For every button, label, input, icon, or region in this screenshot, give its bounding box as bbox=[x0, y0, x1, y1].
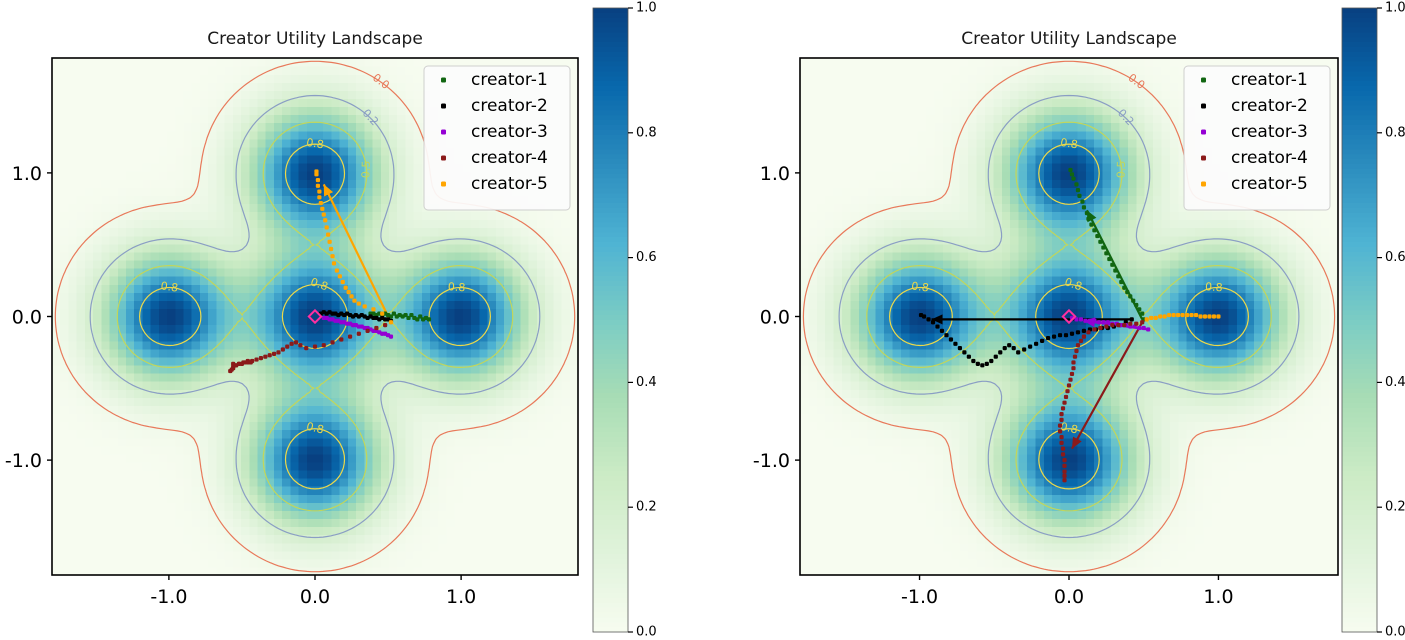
trajectory-point bbox=[1059, 418, 1063, 422]
trajectory-point bbox=[316, 178, 320, 182]
trajectory-point bbox=[1028, 345, 1032, 349]
trajectory-point bbox=[1092, 319, 1096, 323]
legend-label: creator-5 bbox=[1231, 174, 1308, 194]
y-tick-label: 1.0 bbox=[760, 163, 790, 185]
legend-label: creator-4 bbox=[471, 148, 548, 168]
trajectory-point bbox=[1071, 360, 1075, 364]
trajectory-point bbox=[1080, 200, 1084, 204]
trajectory-point bbox=[1083, 319, 1087, 323]
trajectory-point bbox=[1128, 322, 1132, 326]
trajectory-point bbox=[931, 320, 935, 324]
trajectory-point bbox=[1077, 194, 1081, 198]
trajectory-point bbox=[1070, 372, 1074, 376]
trajectory-point bbox=[1003, 346, 1007, 350]
trajectory-point bbox=[281, 347, 285, 351]
contour-label: 0.8 bbox=[1059, 136, 1078, 151]
trajectory-point bbox=[1110, 263, 1114, 267]
trajectory-point bbox=[1040, 339, 1044, 343]
trajectory-point bbox=[1154, 316, 1158, 320]
trajectory-point bbox=[1098, 326, 1102, 330]
trajectory-point bbox=[1125, 290, 1129, 294]
trajectory-point bbox=[338, 274, 342, 278]
trajectory-point bbox=[1067, 383, 1071, 387]
legend-label: creator-1 bbox=[471, 70, 548, 90]
trajectory-point bbox=[363, 304, 367, 308]
trajectory-point bbox=[316, 184, 320, 188]
legend-label: creator-4 bbox=[1231, 148, 1308, 168]
trajectory-point bbox=[985, 362, 989, 366]
trajectory-point bbox=[1016, 350, 1020, 354]
trajectory-point bbox=[1068, 168, 1072, 172]
trajectory-point bbox=[1101, 245, 1105, 249]
trajectory-point bbox=[1062, 474, 1066, 478]
trajectory-point bbox=[330, 340, 334, 344]
trajectory-point bbox=[1076, 330, 1080, 334]
contour-label: 0.8 bbox=[305, 136, 324, 152]
trajectory-point bbox=[1059, 435, 1063, 439]
colorbar: 0.00.20.40.60.81.0 bbox=[1338, 0, 1405, 640]
trajectory-point bbox=[1007, 343, 1011, 347]
x-tick-label: 1.0 bbox=[1203, 586, 1233, 608]
trajectory-point bbox=[1071, 177, 1075, 181]
trajectory-point bbox=[325, 225, 329, 229]
trajectory-point bbox=[326, 233, 330, 237]
trajectory-point bbox=[919, 313, 923, 317]
trajectory-point bbox=[1071, 366, 1075, 370]
trajectory-point bbox=[254, 357, 258, 361]
trajectory-point bbox=[1180, 313, 1184, 317]
trajectory-point bbox=[1062, 401, 1066, 405]
trajectory-point bbox=[1022, 347, 1026, 351]
trajectory-point bbox=[276, 350, 280, 354]
trajectory-point bbox=[322, 343, 326, 347]
trajectory-point bbox=[328, 240, 332, 244]
legend[interactable]: creator-1creator-2creator-3creator-4crea… bbox=[424, 66, 570, 210]
trajectory-point bbox=[926, 317, 930, 321]
trajectory-point bbox=[1198, 314, 1202, 318]
trajectory-point bbox=[249, 360, 253, 364]
trajectory-point bbox=[383, 323, 387, 327]
colorbar-tick-label: 0.0 bbox=[1385, 625, 1405, 640]
legend-label: creator-3 bbox=[1231, 122, 1308, 142]
trajectory-point bbox=[940, 329, 944, 333]
legend-marker-icon bbox=[441, 104, 446, 109]
trajectory-point bbox=[389, 320, 393, 324]
trajectory-point bbox=[357, 332, 361, 336]
colorbar-tick-label: 1.0 bbox=[636, 1, 657, 16]
trajectory-point bbox=[380, 312, 384, 316]
trajectory-point bbox=[935, 324, 939, 328]
trajectory-point bbox=[1146, 327, 1150, 331]
trajectory-point bbox=[994, 355, 998, 359]
trajectory-point bbox=[341, 280, 345, 284]
trajectory-point bbox=[374, 326, 378, 330]
trajectory-point bbox=[1134, 303, 1138, 307]
trajectory-point bbox=[1104, 324, 1108, 328]
trajectory-point bbox=[1079, 317, 1083, 321]
trajectory-point bbox=[1064, 395, 1068, 399]
colorbar-tick-label: 0.2 bbox=[636, 500, 657, 515]
trajectory-point bbox=[1101, 320, 1105, 324]
trajectory-point bbox=[304, 346, 308, 350]
trajectory-point bbox=[1106, 320, 1110, 324]
trajectory-point bbox=[1076, 343, 1080, 347]
trajectory-point bbox=[1089, 222, 1093, 226]
trajectory-point bbox=[1058, 424, 1062, 428]
trajectory-point bbox=[1172, 313, 1176, 317]
trajectory-point bbox=[1086, 330, 1090, 334]
trajectory-point bbox=[1163, 314, 1167, 318]
legend-label: creator-2 bbox=[1231, 96, 1308, 116]
trajectory-point bbox=[1189, 313, 1193, 317]
colorbar-tick-label: 0.8 bbox=[1385, 125, 1405, 140]
colorbar-tick-label: 0.6 bbox=[1385, 250, 1405, 265]
legend-marker-icon bbox=[1201, 104, 1206, 109]
trajectory-point bbox=[1131, 299, 1135, 303]
trajectory-point bbox=[1086, 217, 1090, 221]
trajectory-point bbox=[272, 352, 276, 356]
trajectory-point bbox=[314, 169, 318, 173]
trajectory-point bbox=[322, 212, 326, 216]
contour-label: 0.8 bbox=[1205, 280, 1223, 294]
legend-marker-icon bbox=[1201, 156, 1206, 161]
trajectory-point bbox=[1012, 346, 1016, 350]
trajectory-point bbox=[1113, 268, 1117, 272]
colorbar-tick-label: 0.4 bbox=[1385, 375, 1405, 390]
trajectory-point bbox=[1046, 336, 1050, 340]
trajectory-point bbox=[1062, 464, 1066, 468]
trajectory-point bbox=[1082, 335, 1086, 339]
colorbar-tick-label: 0.0 bbox=[636, 625, 657, 640]
trajectory-point bbox=[1212, 314, 1216, 318]
trajectory-point bbox=[1098, 240, 1102, 244]
trajectory-point bbox=[294, 340, 298, 344]
trajectory-point bbox=[317, 189, 321, 193]
trajectory-point bbox=[263, 355, 267, 359]
colorbar-tick-label: 1.0 bbox=[1385, 1, 1405, 16]
legend-marker-icon bbox=[441, 156, 446, 161]
x-tick-label: 1.0 bbox=[446, 586, 476, 608]
trajectory-point bbox=[352, 299, 356, 303]
trajectory-point bbox=[949, 337, 953, 341]
y-tick-label: -1.0 bbox=[5, 450, 42, 472]
trajectory-point bbox=[285, 345, 289, 349]
trajectory-point bbox=[1059, 412, 1063, 416]
chart-title: Creator Utility Landscape bbox=[207, 29, 423, 49]
trajectory-point bbox=[319, 201, 323, 205]
trajectory-point bbox=[1034, 342, 1038, 346]
trajectory-point bbox=[259, 356, 263, 360]
trajectory-point bbox=[1158, 314, 1162, 318]
legend-marker-icon bbox=[1201, 78, 1206, 83]
trajectory-point bbox=[366, 329, 370, 333]
x-tick-label: 0.0 bbox=[300, 586, 330, 608]
trajectory-point bbox=[1149, 316, 1153, 320]
trajectory-point bbox=[1061, 447, 1065, 451]
y-tick-label: 0.0 bbox=[12, 307, 42, 329]
trajectory-point bbox=[976, 362, 980, 366]
colorbar-tick-label: 0.8 bbox=[636, 125, 657, 140]
trajectory-point bbox=[1079, 339, 1083, 343]
trajectory-point bbox=[1116, 323, 1120, 327]
trajectory-point bbox=[357, 301, 361, 305]
trajectory-point bbox=[1082, 329, 1086, 333]
trajectory-point bbox=[320, 207, 324, 211]
trajectory-point bbox=[1176, 313, 1180, 317]
trajectory-point bbox=[1107, 257, 1111, 261]
legend-marker-icon bbox=[441, 78, 446, 83]
legend-label: creator-5 bbox=[471, 174, 548, 194]
trajectory-point bbox=[962, 350, 966, 354]
y-tick-label: -1.0 bbox=[753, 450, 790, 472]
trajectory-point bbox=[1062, 458, 1066, 462]
trajectory-point bbox=[980, 363, 984, 367]
utility-landscape-chart: Creator Utility Landscape0.00.20.50.80.8… bbox=[740, 0, 1340, 640]
colorbar: 0.00.20.40.60.81.0 bbox=[590, 0, 675, 640]
trajectory-point bbox=[313, 345, 317, 349]
trajectory-point bbox=[335, 268, 339, 272]
trajectory-point bbox=[1119, 280, 1123, 284]
trajectory-point bbox=[1142, 326, 1146, 330]
trajectory-point bbox=[989, 359, 993, 363]
trajectory-point bbox=[1065, 389, 1069, 393]
chart-panel-left[interactable]: Creator Utility Landscape0.00.20.50.80.8… bbox=[0, 0, 590, 640]
trajectory-point bbox=[1216, 314, 1220, 318]
trajectory-point bbox=[1167, 313, 1171, 317]
contour-label: 0.5 bbox=[1114, 160, 1128, 178]
trajectory-point bbox=[1207, 314, 1211, 318]
figure-root: Creator Utility Landscape0.00.20.50.80.8… bbox=[0, 0, 1405, 640]
trajectory-point bbox=[1052, 335, 1056, 339]
trajectory-point bbox=[268, 353, 272, 357]
trajectory-point bbox=[958, 346, 962, 350]
trajectory-point bbox=[967, 355, 971, 359]
trajectory-point bbox=[1074, 349, 1078, 353]
y-tick-label: 0.0 bbox=[760, 307, 790, 329]
trajectory-point bbox=[1076, 188, 1080, 192]
legend-label: creator-2 bbox=[471, 96, 548, 116]
trajectory-point bbox=[998, 350, 1002, 354]
trajectory-point bbox=[1092, 327, 1096, 331]
trajectory-point bbox=[1116, 274, 1120, 278]
trajectory-point bbox=[1104, 251, 1108, 255]
chart-panel-right[interactable]: Creator Utility Landscape0.00.20.50.80.8… bbox=[740, 0, 1340, 640]
trajectory-point bbox=[298, 343, 302, 347]
colorbar-right: 0.00.20.40.60.81.0 bbox=[1338, 0, 1405, 640]
colorbar-gradient bbox=[593, 8, 628, 633]
contour-label: 0.8 bbox=[447, 280, 465, 294]
trajectory-point bbox=[1061, 406, 1065, 410]
trajectory-point bbox=[344, 286, 348, 290]
trajectory-point bbox=[1061, 452, 1065, 456]
trajectory-point bbox=[290, 342, 294, 346]
trajectory-point bbox=[1134, 322, 1138, 326]
trajectory-point bbox=[1082, 205, 1086, 209]
x-tick-label: -1.0 bbox=[150, 586, 187, 608]
x-tick-label: 0.0 bbox=[1054, 586, 1084, 608]
legend-label: creator-1 bbox=[1231, 70, 1308, 90]
trajectory-point bbox=[1073, 355, 1077, 359]
trajectory-point bbox=[1130, 317, 1134, 321]
legend-marker-icon bbox=[1201, 182, 1206, 187]
trajectory-point bbox=[1140, 320, 1144, 324]
trajectory-point bbox=[1092, 228, 1096, 232]
trajectory-point bbox=[348, 335, 352, 339]
trajectory-point bbox=[1185, 313, 1189, 317]
trajectory-point bbox=[1062, 470, 1066, 474]
legend-label: creator-3 bbox=[471, 122, 548, 142]
trajectory-point bbox=[1140, 312, 1144, 316]
colorbar-tick-label: 0.2 bbox=[1385, 500, 1405, 515]
x-tick-label: -1.0 bbox=[901, 586, 938, 608]
trajectory-point bbox=[339, 337, 343, 341]
trajectory-point bbox=[1145, 317, 1149, 321]
trajectory-point bbox=[347, 290, 351, 294]
trajectory-point bbox=[1203, 314, 1207, 318]
trajectory-point bbox=[231, 362, 235, 366]
legend-marker-icon bbox=[441, 130, 446, 135]
trajectory-point bbox=[371, 307, 375, 311]
trajectory-point bbox=[1070, 332, 1074, 336]
trajectory-point bbox=[1070, 172, 1074, 176]
contour-label: 0.5 bbox=[359, 160, 373, 178]
trajectory-point bbox=[1110, 323, 1114, 327]
legend-marker-icon bbox=[1201, 130, 1206, 135]
trajectory-point bbox=[1122, 286, 1126, 290]
colorbar-tick-label: 0.6 bbox=[636, 250, 657, 265]
trajectory-point bbox=[1137, 307, 1141, 311]
trajectory-point bbox=[330, 254, 334, 258]
trajectory-point bbox=[323, 218, 327, 222]
trajectory-point bbox=[329, 247, 333, 251]
trajectory-point bbox=[1062, 478, 1066, 482]
trajectory-point bbox=[1128, 294, 1132, 298]
trajectory-point bbox=[1122, 323, 1126, 327]
colorbar-gradient bbox=[1342, 8, 1377, 633]
trajectory-point bbox=[349, 294, 353, 298]
contour-label: 0.8 bbox=[160, 279, 179, 294]
trajectory-point bbox=[1194, 313, 1198, 317]
chart-title: Creator Utility Landscape bbox=[961, 29, 1177, 49]
colorbar-tick-label: 0.4 bbox=[636, 375, 657, 390]
trajectory-point bbox=[1068, 378, 1072, 382]
trajectory-point bbox=[1059, 441, 1063, 445]
y-tick-label: 1.0 bbox=[12, 163, 42, 185]
trajectory-point bbox=[1088, 319, 1092, 323]
trajectory-point bbox=[953, 342, 957, 346]
trajectory-point bbox=[944, 333, 948, 337]
trajectory-point bbox=[1058, 429, 1062, 433]
trajectory-point bbox=[1095, 234, 1099, 238]
trajectory-point bbox=[971, 359, 975, 363]
contour-label: 0.8 bbox=[911, 279, 930, 294]
trajectory-point bbox=[1058, 333, 1062, 337]
trajectory-point bbox=[1097, 320, 1101, 324]
trajectory-point bbox=[1137, 326, 1141, 330]
trajectory-point bbox=[1085, 211, 1089, 215]
trajectory-point bbox=[332, 261, 336, 265]
utility-landscape-chart: Creator Utility Landscape0.00.20.50.80.8… bbox=[0, 0, 590, 640]
trajectory-point bbox=[317, 195, 321, 199]
legend[interactable]: creator-1creator-2creator-3creator-4crea… bbox=[1184, 66, 1330, 210]
legend-marker-icon bbox=[441, 182, 446, 187]
trajectory-point bbox=[1064, 333, 1068, 337]
colorbar-left: 0.00.20.40.60.81.0 bbox=[590, 0, 675, 640]
trajectory-point bbox=[1074, 182, 1078, 186]
